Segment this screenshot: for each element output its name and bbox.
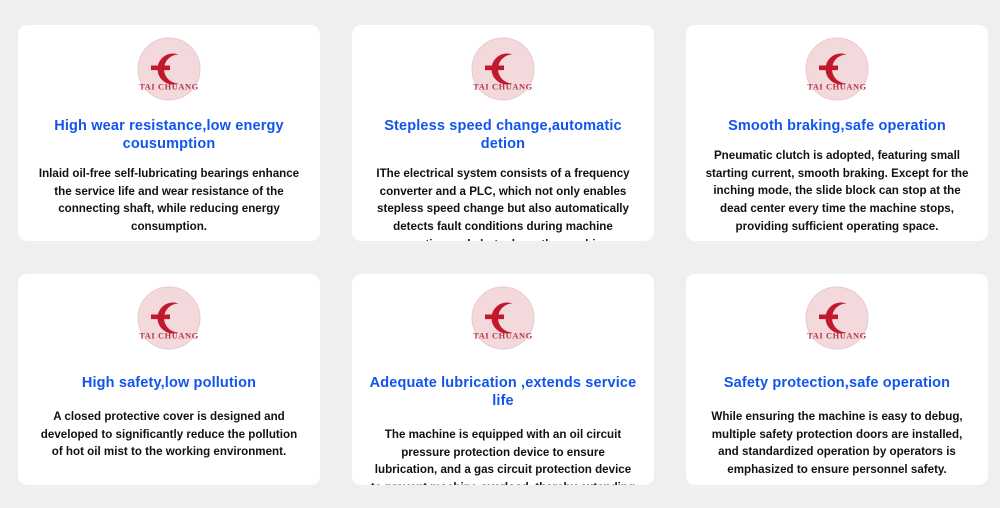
card-body: Pneumatic clutch is adopted, featuring s… — [694, 147, 980, 235]
logo-wordmark: TAI CHUANG — [807, 83, 867, 92]
feature-card-adequate-lubrication[interactable]: TAI CHUANG Adequate lubrication ,extends… — [352, 274, 654, 485]
card-body: While ensuring the machine is easy to de… — [694, 408, 980, 478]
card-title: High wear resistance,low energy cousumpt… — [26, 117, 312, 153]
feature-card-smooth-braking[interactable]: TAI CHUANG Smooth braking,safe operation… — [686, 25, 988, 241]
feature-card-stepless-speed-change[interactable]: TAI CHUANG Stepless speed change,automat… — [352, 25, 654, 241]
card-body: A closed protective cover is designed an… — [26, 408, 312, 461]
card-title: Smooth braking,safe operation — [694, 117, 980, 135]
feature-card-high-safety-low-pollution[interactable]: TAI CHUANG High safety,low pollution A c… — [18, 274, 320, 485]
tai-chuang-logo-icon: TAI CHUANG — [471, 286, 535, 350]
card-title: High safety,low pollution — [26, 374, 312, 392]
tai-chuang-logo-icon: TAI CHUANG — [137, 286, 201, 350]
logo-wordmark: TAI CHUANG — [139, 332, 199, 341]
tai-chuang-logo-icon: TAI CHUANG — [137, 37, 201, 101]
card-title: Stepless speed change,automatic detion — [360, 117, 646, 153]
logo-wordmark: TAI CHUANG — [473, 332, 533, 341]
feature-card-high-wear-resistance[interactable]: TAI CHUANG High wear resistance,low ener… — [18, 25, 320, 241]
tai-chuang-logo-icon: TAI CHUANG — [805, 37, 869, 101]
logo-wordmark: TAI CHUANG — [807, 332, 867, 341]
card-body: IThe electrical system consists of a fre… — [360, 165, 646, 241]
card-title: Adequate lubrication ,extends service li… — [360, 374, 646, 410]
logo-wordmark: TAI CHUANG — [473, 83, 533, 92]
card-title: Safety protection,safe operation — [694, 374, 980, 392]
card-body: The machine is equipped with an oil circ… — [360, 426, 646, 485]
logo-wordmark: TAI CHUANG — [139, 83, 199, 92]
card-body: Inlaid oil-free self-lubricating bearing… — [26, 165, 312, 235]
tai-chuang-logo-icon: TAI CHUANG — [471, 37, 535, 101]
tai-chuang-logo-icon: TAI CHUANG — [805, 286, 869, 350]
feature-card-grid: TAI CHUANG High wear resistance,low ener… — [0, 0, 1000, 508]
feature-card-safety-protection[interactable]: TAI CHUANG Safety protection,safe operat… — [686, 274, 988, 485]
